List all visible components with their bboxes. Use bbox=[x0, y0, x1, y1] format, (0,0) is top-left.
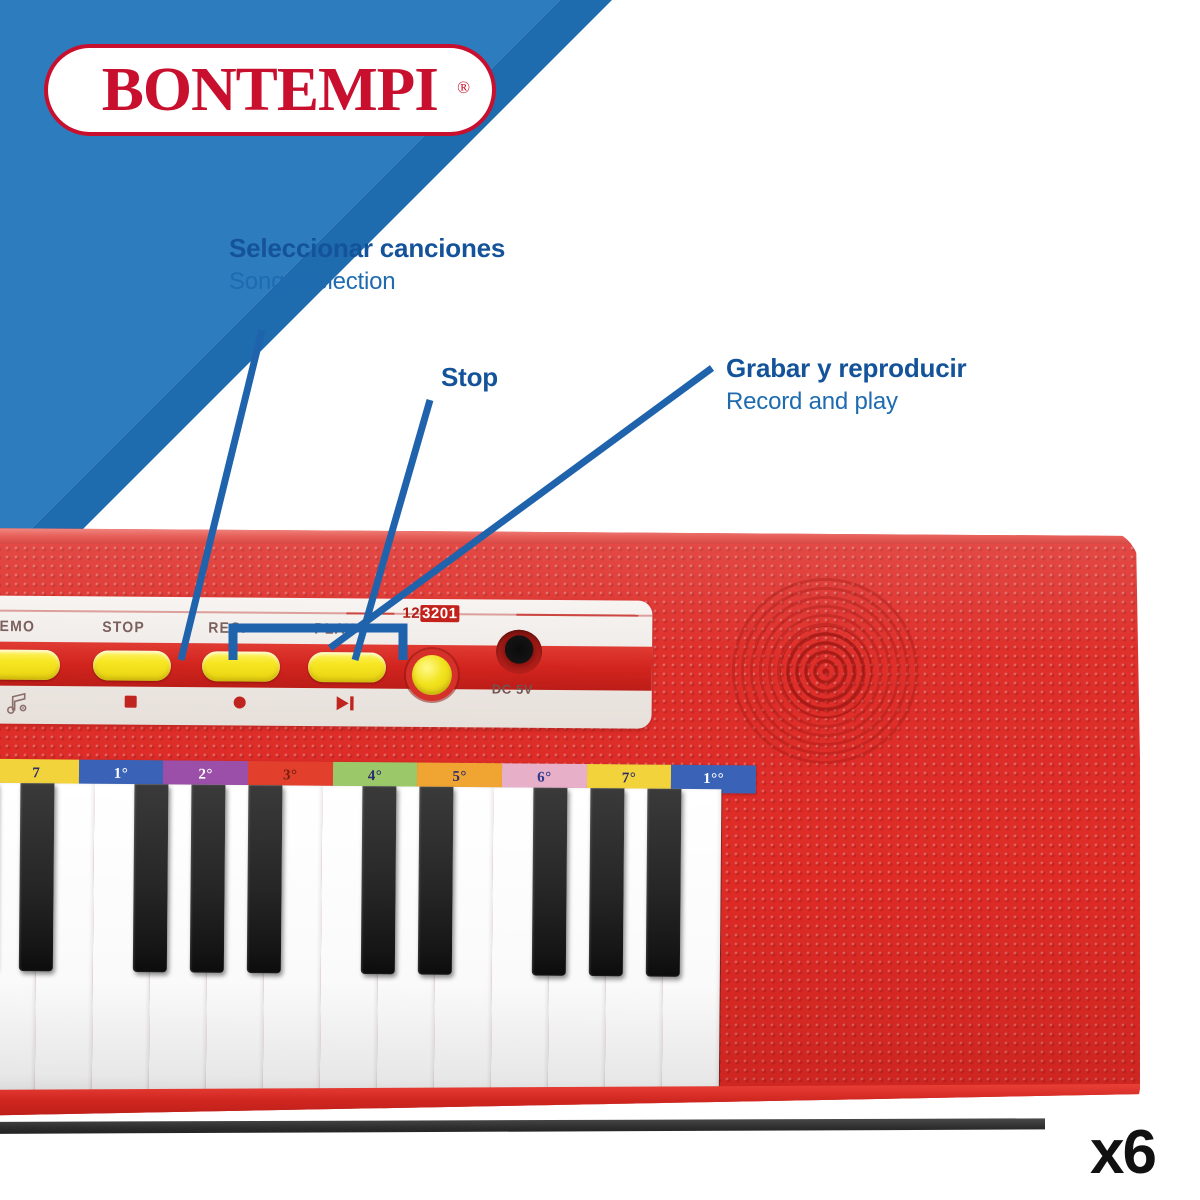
piano-keys bbox=[0, 782, 757, 1116]
button-label-demo: DEMO bbox=[0, 617, 35, 635]
music-note-icon bbox=[6, 692, 32, 721]
black-key[interactable] bbox=[247, 785, 283, 973]
speaker-grille-center-icon bbox=[780, 626, 872, 718]
model-number: 123201 bbox=[402, 605, 459, 622]
button-label-stop: STOP bbox=[102, 618, 145, 636]
black-key[interactable] bbox=[589, 788, 625, 976]
stop-square-icon bbox=[122, 693, 140, 716]
stop-button[interactable] bbox=[93, 650, 171, 681]
model-highlight: 3201 bbox=[420, 605, 460, 622]
demo-button[interactable] bbox=[0, 649, 60, 680]
callout-label-es: Stop bbox=[441, 363, 498, 393]
dc-power-jack bbox=[496, 630, 542, 674]
registered-trademark-icon: ® bbox=[457, 78, 470, 98]
black-key[interactable] bbox=[133, 784, 169, 972]
dc-jack-label: DC 5V bbox=[492, 681, 533, 696]
play-triangle-icon bbox=[334, 694, 360, 717]
model-prefix: 12 bbox=[402, 605, 420, 622]
keyboard-base-shadow bbox=[0, 1118, 1146, 1134]
bontempi-logo: BONTEMPI ® bbox=[44, 44, 496, 136]
callout-songs-selection: Seleccionar canciones Songs selection bbox=[229, 234, 505, 297]
product-feature-image: BONTEMPI ® Seleccionar canciones Songs s… bbox=[0, 0, 1200, 1200]
play-button[interactable] bbox=[308, 652, 386, 683]
model-rule-left bbox=[346, 612, 394, 614]
black-key[interactable] bbox=[361, 786, 397, 974]
callout-record-and-play: Grabar y reproducir Record and play bbox=[726, 354, 966, 417]
record-button[interactable] bbox=[202, 651, 280, 682]
black-key[interactable] bbox=[646, 789, 682, 977]
record-circle-icon bbox=[231, 693, 249, 716]
logo-wordmark: BONTEMPI bbox=[102, 59, 438, 121]
quantity-badge-text: x6 bbox=[1090, 1122, 1155, 1184]
black-key[interactable] bbox=[532, 788, 568, 976]
black-key[interactable] bbox=[19, 783, 55, 971]
callout-label-en: Songs selection bbox=[229, 268, 505, 297]
power-button[interactable] bbox=[412, 655, 452, 695]
callout-label-es: Seleccionar canciones bbox=[229, 234, 505, 264]
control-panel: 123201 DEMO STOP bbox=[0, 595, 652, 729]
model-rule-right bbox=[516, 614, 638, 617]
callout-stop: Stop bbox=[441, 363, 498, 393]
quantity-badge: x6 bbox=[1045, 1105, 1200, 1200]
button-label-rec: REC. bbox=[208, 619, 246, 637]
keyboard-body: 123201 DEMO STOP bbox=[0, 528, 1140, 1116]
callout-label-es: Grabar y reproducir bbox=[726, 354, 966, 384]
callout-label-en: Record and play bbox=[726, 388, 966, 417]
keyboard-product: 123201 DEMO STOP bbox=[0, 528, 1160, 1148]
black-key[interactable] bbox=[190, 785, 226, 973]
button-label-play: PLAY bbox=[314, 619, 355, 637]
black-key[interactable] bbox=[418, 787, 454, 975]
